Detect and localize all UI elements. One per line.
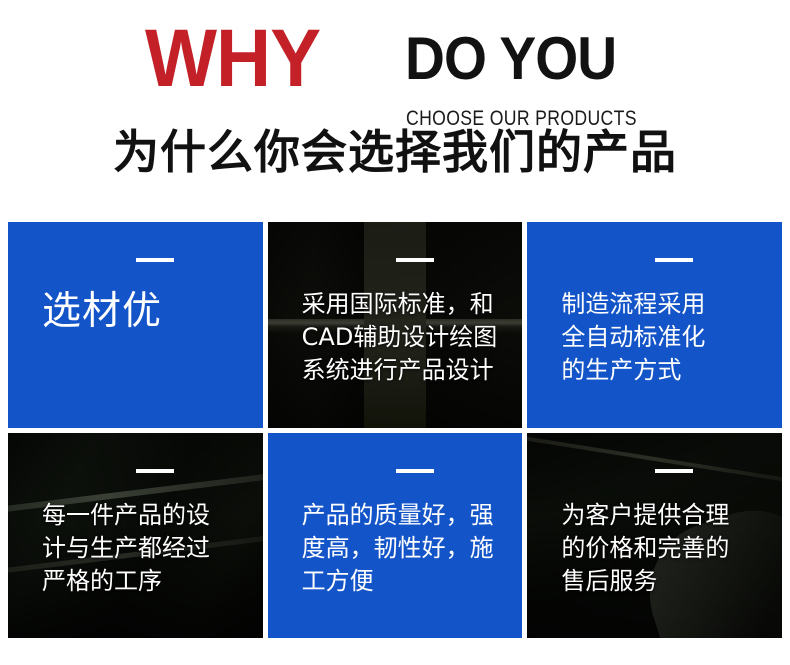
feature-card-text: 选材优 (42, 288, 249, 336)
feature-card-body: 采用国际标准，和 CAD辅助设计绘图 系统进行产品设计 (268, 222, 523, 428)
feature-card-material-selection: 选材优 (8, 222, 263, 428)
feature-card-price-aftersales: 为客户提供合理 的价格和完善的 售后服务 (527, 433, 782, 639)
feature-card-body: 每一件产品的设 计与生产都经过 严格的工序 (8, 433, 263, 639)
feature-card-international-standard-cad: 采用国际标准，和 CAD辅助设计绘图 系统进行产品设计 (268, 222, 523, 428)
feature-card-body: 制造流程采用 全自动标准化 的生产方式 (527, 222, 782, 428)
divider-dash-icon (655, 258, 693, 262)
feature-card-text: 采用国际标准，和 CAD辅助设计绘图 系统进行产品设计 (302, 288, 509, 387)
promo-header: WHY DO YOU CHOOSE OUR PRODUCTS 为什么你会选择我们… (0, 0, 790, 222)
feature-card-body: 产品的质量好，强 度高，韧性好，施 工方便 (268, 433, 523, 639)
feature-card-body: 选材优 (8, 222, 263, 428)
feature-card-text: 产品的质量好，强 度高，韧性好，施 工方便 (302, 499, 509, 598)
headline-why: WHY (145, 18, 320, 100)
feature-card-automated-production: 制造流程采用 全自动标准化 的生产方式 (527, 222, 782, 428)
headline-do-you: DO YOU (405, 29, 616, 89)
feature-card-text: 制造流程采用 全自动标准化 的生产方式 (561, 288, 768, 387)
feature-card-text: 为客户提供合理 的价格和完善的 售后服务 (561, 499, 768, 598)
divider-dash-icon (136, 258, 174, 262)
headline-subtitle-chinese: 为什么你会选择我们的产品 (0, 126, 790, 178)
divider-dash-icon (396, 469, 434, 473)
headline-row: WHY DO YOU CHOOSE OUR PRODUCTS (0, 18, 790, 98)
divider-dash-icon (655, 469, 693, 473)
feature-card-text: 每一件产品的设 计与生产都经过 严格的工序 (42, 499, 249, 598)
divider-dash-icon (136, 469, 174, 473)
divider-dash-icon (396, 258, 434, 262)
feature-card-strict-process: 每一件产品的设 计与生产都经过 严格的工序 (8, 433, 263, 639)
feature-grid: 选材优 采用国际标准，和 CAD辅助设计绘图 系统进行产品设计 制造流程采用 全… (8, 222, 782, 638)
feature-card-quality-strength: 产品的质量好，强 度高，韧性好，施 工方便 (268, 433, 523, 639)
feature-card-body: 为客户提供合理 的价格和完善的 售后服务 (527, 433, 782, 639)
